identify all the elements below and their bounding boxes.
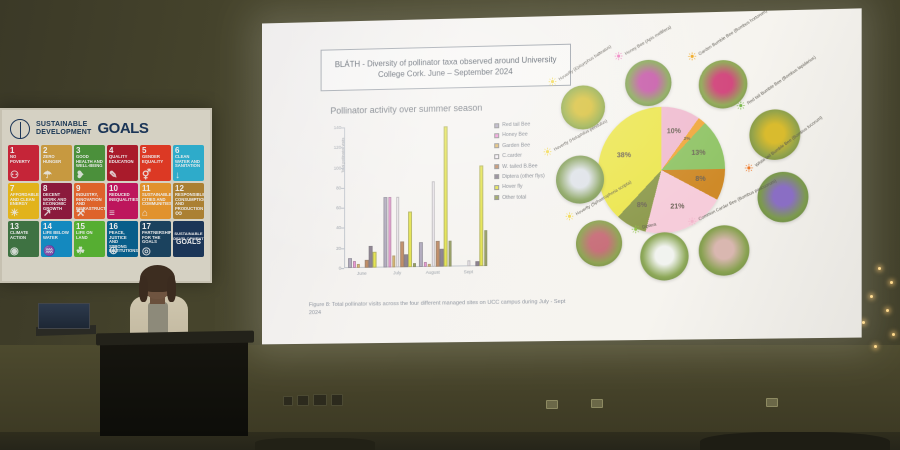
y-axis-tick-label: 120 xyxy=(334,145,342,150)
bar xyxy=(392,255,396,267)
sdg-goal-icon: ◉ xyxy=(10,250,19,255)
legend-label: Honey Bee xyxy=(502,132,528,139)
x-axis-tick-label: Sept xyxy=(464,269,473,274)
sdg-goal-tile: 6CLEAN WATER AND SANITATION↓ xyxy=(173,145,204,181)
wall-vent-panel xyxy=(297,395,309,406)
bar xyxy=(396,197,400,268)
sdg-goal-icon: ⚒ xyxy=(76,212,85,217)
photo-image xyxy=(576,220,622,267)
photo-diptera xyxy=(640,232,688,281)
bar xyxy=(400,241,404,267)
sdg-goal-icon: ⚇ xyxy=(10,174,19,179)
y-axis-tick xyxy=(341,268,344,269)
sdg-goal-label: NO POVERTY xyxy=(10,154,30,164)
bar-group xyxy=(455,124,488,266)
bar xyxy=(348,258,352,268)
legend-swatch xyxy=(494,143,499,148)
bar xyxy=(440,249,444,267)
photo-white-tail-bumble-bee xyxy=(758,171,809,222)
legend-label: Diptera (other flys) xyxy=(502,173,545,180)
y-axis-tick-label: 100 xyxy=(334,165,342,170)
sdg-goal-icon: ⌂ xyxy=(142,212,148,217)
photo-image xyxy=(758,171,809,222)
sdg-goal-label: QUALITY EDUCATION xyxy=(109,154,134,164)
photo-image xyxy=(699,225,750,276)
sdg-goal-icon: ❥ xyxy=(76,174,84,179)
sdg-goal-label: LIFE BELOW WATER xyxy=(43,230,69,240)
legend-label: C.carder xyxy=(502,153,522,159)
legend-swatch xyxy=(494,133,499,138)
wall-vent-panel xyxy=(283,396,293,406)
bar xyxy=(436,241,440,267)
sdg-goal-label: CLIMATE ACTION xyxy=(10,230,28,240)
bar xyxy=(484,230,488,266)
y-axis-tick xyxy=(341,127,344,128)
sdg-title-line2: DEVELOPMENT xyxy=(36,129,91,137)
pie-slice-label: 38% xyxy=(617,152,631,159)
sdg-goal-icon: ⚥ xyxy=(142,174,151,179)
sdg-goal-icon: ☂ xyxy=(43,174,52,179)
sdg-goal-tile: 12RESPONSIBLE CONSUMPTION AND PRODUCTION… xyxy=(173,183,204,219)
sdg-goal-tile: 13CLIMATE ACTION◉ xyxy=(8,221,39,257)
y-axis-tick xyxy=(341,188,344,189)
sunburst-icon xyxy=(543,143,552,152)
sdg-goal-tile: 8DECENT WORK AND ECONOMIC GROWTH↗ xyxy=(41,183,72,219)
sdg-goal-tile: 2ZERO HUNGER☂ xyxy=(41,145,72,181)
table-right xyxy=(700,432,890,450)
sdg-goal-tile: 7AFFORDABLE AND CLEAN ENERGY☀ xyxy=(8,183,39,219)
sdg-goal-icon: ☮ xyxy=(109,250,118,255)
photo-honey-bee xyxy=(625,59,671,106)
bar xyxy=(423,262,427,267)
bar-chart-plot-area: Total pollinator visits 0204060801001201… xyxy=(344,124,486,268)
sunburst-icon xyxy=(736,97,745,106)
legend-swatch xyxy=(494,175,499,180)
photo-image xyxy=(640,232,688,281)
x-axis-tick-label: August xyxy=(426,270,440,275)
figure-caption: Figure 8: Total pollinator visits across… xyxy=(309,298,568,317)
sdg-goal-icon: ↓ xyxy=(175,174,180,179)
sunburst-icon xyxy=(565,208,574,217)
room-scene: SUSTAINABLE DEVELOPMENT GOALS 1NO POVERT… xyxy=(0,0,900,450)
sdg-goal-icon: ♒ xyxy=(43,250,55,255)
sdg-goal-tile: 10REDUCED INEQUALITIES≡ xyxy=(107,183,138,219)
bar-group xyxy=(384,126,416,268)
bar xyxy=(352,261,356,268)
sdg-goal-icon: ∞ xyxy=(175,212,182,217)
bar xyxy=(480,165,484,266)
legend-swatch xyxy=(494,154,499,159)
bar xyxy=(369,246,373,268)
wall-vent-panel xyxy=(313,394,327,406)
bar-chart-title: Pollinator activity over summer season xyxy=(330,103,482,116)
sdg-goal-icon: ☀ xyxy=(10,212,19,217)
slide-title-box: BLÁTH - Diversity of pollinator taxa obs… xyxy=(321,44,571,92)
y-axis-tick xyxy=(341,148,344,149)
wall-vent-panel xyxy=(331,394,343,406)
sdg-goal-tile: 4QUALITY EDUCATION✎ xyxy=(107,145,138,181)
photo-hoverfly-helophilus xyxy=(556,155,604,204)
projection-screen: BLÁTH - Diversity of pollinator taxa obs… xyxy=(262,8,862,344)
bar xyxy=(432,181,436,267)
sdg-goal-label: PARTNERSHIPS FOR THE GOALS xyxy=(142,230,171,244)
sdg-goal-label: CLEAN WATER AND SANITATION xyxy=(175,154,200,168)
sdg-poster-header: SUSTAINABLE DEVELOPMENT GOALS xyxy=(8,116,204,142)
bar xyxy=(413,263,417,267)
sdg-goal-tile: 17PARTNERSHIPS FOR THE GOALS◎ xyxy=(140,221,171,257)
legend-swatch xyxy=(494,123,499,128)
sdg-goal-icon: ↗ xyxy=(43,212,51,217)
presenter-hair-right xyxy=(167,276,176,302)
sdg-poster-title: SUSTAINABLE DEVELOPMENT xyxy=(36,121,91,137)
bar xyxy=(476,261,480,266)
laptop-screen[interactable] xyxy=(38,303,90,329)
bar xyxy=(384,197,388,268)
photo-hoverfly-sphaerophoria xyxy=(576,220,622,267)
sdg-goal-label: AFFORDABLE AND CLEAN ENERGY xyxy=(10,192,39,206)
sdg-goal-label: GOOD HEALTH AND WELL-BEING xyxy=(76,154,103,168)
bar-group xyxy=(348,127,380,268)
pie-slice-label: 8% xyxy=(637,202,647,209)
sdg-goal-icon: ☘ xyxy=(76,250,85,255)
y-axis-tick xyxy=(341,208,344,209)
bar-chart: Pollinator activity over summer season T… xyxy=(307,101,564,295)
y-axis-tick xyxy=(341,168,344,169)
wall-socket[interactable] xyxy=(591,399,603,408)
pie-slice-label: 21% xyxy=(670,203,684,210)
sunburst-icon xyxy=(688,213,697,222)
bar xyxy=(357,264,361,268)
table-left xyxy=(255,438,375,450)
sdg-footer-word: GOALS xyxy=(176,241,201,246)
legend-swatch xyxy=(494,195,499,200)
photo-image xyxy=(625,59,671,106)
sdg-goal-tile: 16PEACE, JUSTICE AND STRONG INSTITUTIONS… xyxy=(107,221,138,257)
lectern xyxy=(100,340,248,436)
sdg-goal-icon: ✎ xyxy=(109,174,117,179)
sdg-goal-tile: 3GOOD HEALTH AND WELL-BEING❥ xyxy=(74,145,105,181)
sunburst-icon xyxy=(548,73,557,82)
pie-slice-label: 2% xyxy=(684,136,691,141)
sdg-goal-tile: 9INDUSTRY, INNOVATION AND INFRASTRUCTURE… xyxy=(74,183,105,219)
sdg-goals-word: GOALS xyxy=(97,122,148,136)
sunburst-icon xyxy=(744,159,753,168)
sdg-goal-icon: ≡ xyxy=(109,212,115,217)
sdg-goal-icon: ◎ xyxy=(142,250,151,255)
bar xyxy=(419,242,423,267)
legend-label: Hover fly xyxy=(502,184,522,190)
photo-image xyxy=(556,155,604,204)
sunburst-icon xyxy=(688,48,697,57)
bar xyxy=(373,252,377,268)
sdg-goal-grid: 1NO POVERTY⚇2ZERO HUNGER☂3GOOD HEALTH AN… xyxy=(8,145,204,257)
sdg-goal-tile: 5GENDER EQUALITY⚥ xyxy=(140,145,171,181)
presenter-hair-left xyxy=(139,276,148,302)
pie-slice-label: 8% xyxy=(695,176,705,183)
sdg-goal-label: SUSTAINABLE CITIES AND COMMUNITIES xyxy=(142,192,171,206)
sdg-goal-tile: 1NO POVERTY⚇ xyxy=(8,145,39,181)
bar xyxy=(428,264,432,267)
photo-label-red-tail-bumble-bee: Red tail Bumble Bee (Bombus lapidarius) xyxy=(746,55,817,106)
bar xyxy=(409,212,413,267)
legend-label: Garden Bee xyxy=(502,142,530,149)
sdg-title-line1: SUSTAINABLE xyxy=(36,121,91,129)
photo-label-garden-bumble-bee: Garden Bumble Bee (Bombus hortorum) xyxy=(697,8,767,56)
sdg-goal-label: ZERO HUNGER xyxy=(43,154,61,164)
sdg-goal-tile: 14LIFE BELOW WATER♒ xyxy=(41,221,72,257)
sdg-poster: SUSTAINABLE DEVELOPMENT GOALS 1NO POVERT… xyxy=(0,108,212,283)
x-axis-tick-label: June xyxy=(357,271,367,276)
sdg-goal-tile: 11SUSTAINABLE CITIES AND COMMUNITIES⌂ xyxy=(140,183,171,219)
y-axis-tick xyxy=(341,248,344,249)
sdg-goal-label: GENDER EQUALITY xyxy=(142,154,163,164)
wall-socket[interactable] xyxy=(766,398,778,407)
bar xyxy=(404,254,408,267)
bar xyxy=(448,240,452,266)
legend-label: Other total xyxy=(502,194,526,200)
bar xyxy=(388,197,392,268)
x-axis-tick-label: July xyxy=(393,270,401,275)
bar xyxy=(467,260,471,266)
sunburst-icon xyxy=(631,221,640,230)
sunburst-icon xyxy=(614,47,623,56)
photo-common-carder-bee xyxy=(699,225,750,276)
y-axis-tick-label: 140 xyxy=(334,125,342,130)
y-axis-tick xyxy=(341,228,344,229)
sdg-goal-label: REDUCED INEQUALITIES xyxy=(109,192,138,202)
sdg-goal-label: LIFE ON LAND xyxy=(76,230,93,240)
wall-socket[interactable] xyxy=(546,400,558,409)
bar-group xyxy=(419,125,452,267)
pie-slice-label: 10% xyxy=(667,128,681,135)
slide-title: BLÁTH - Diversity of pollinator taxa obs… xyxy=(322,54,570,82)
legend-label: W. tailed B.Bee xyxy=(502,163,537,170)
bar xyxy=(444,126,448,266)
legend-item[interactable]: Honey Bee xyxy=(494,131,572,139)
sdg-goal-tile: 15LIFE ON LAND☘ xyxy=(74,221,105,257)
un-logo-icon xyxy=(10,119,30,139)
sdg-footer-logo: SUSTAINABLEDEVELOPMENTGOALS xyxy=(173,221,204,257)
slide-surface: BLÁTH - Diversity of pollinator taxa obs… xyxy=(262,8,862,344)
legend-swatch xyxy=(494,164,499,169)
bar xyxy=(365,260,369,268)
pie-slice-label: 13% xyxy=(691,150,705,157)
photo-label-honey-bee: Honey Bee (Apis mellifera) xyxy=(624,24,672,56)
legend-label: Red tail Bee xyxy=(502,122,530,129)
legend-swatch xyxy=(494,185,499,190)
